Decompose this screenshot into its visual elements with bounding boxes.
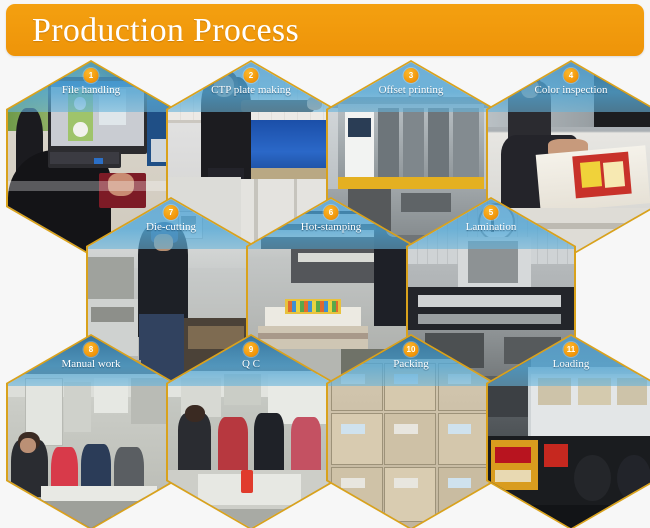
step-label-2: CTP plate making bbox=[168, 84, 334, 97]
step-badge-9: 9 bbox=[244, 342, 259, 357]
step-badge-1: 1 bbox=[84, 68, 99, 83]
header-bar: Production Process bbox=[6, 4, 644, 56]
step-label-4: Color inspection bbox=[488, 84, 650, 97]
step-label-1: File handling bbox=[8, 84, 174, 97]
step-badge-6: 6 bbox=[324, 205, 339, 220]
step-badge-2: 2 bbox=[244, 68, 259, 83]
production-process-infographic: Production Process bbox=[0, 0, 650, 528]
page-title: Production Process bbox=[32, 8, 299, 54]
step-badge-11: 11 bbox=[564, 342, 579, 357]
step-badge-3: 3 bbox=[404, 68, 419, 83]
step-badge-7: 7 bbox=[164, 205, 179, 220]
step-badge-5: 5 bbox=[484, 205, 499, 220]
step-label-3: Offset printing bbox=[328, 84, 494, 97]
step-badge-10: 10 bbox=[404, 342, 419, 357]
step-badge-4: 4 bbox=[564, 68, 579, 83]
step-badge-8: 8 bbox=[84, 342, 99, 357]
